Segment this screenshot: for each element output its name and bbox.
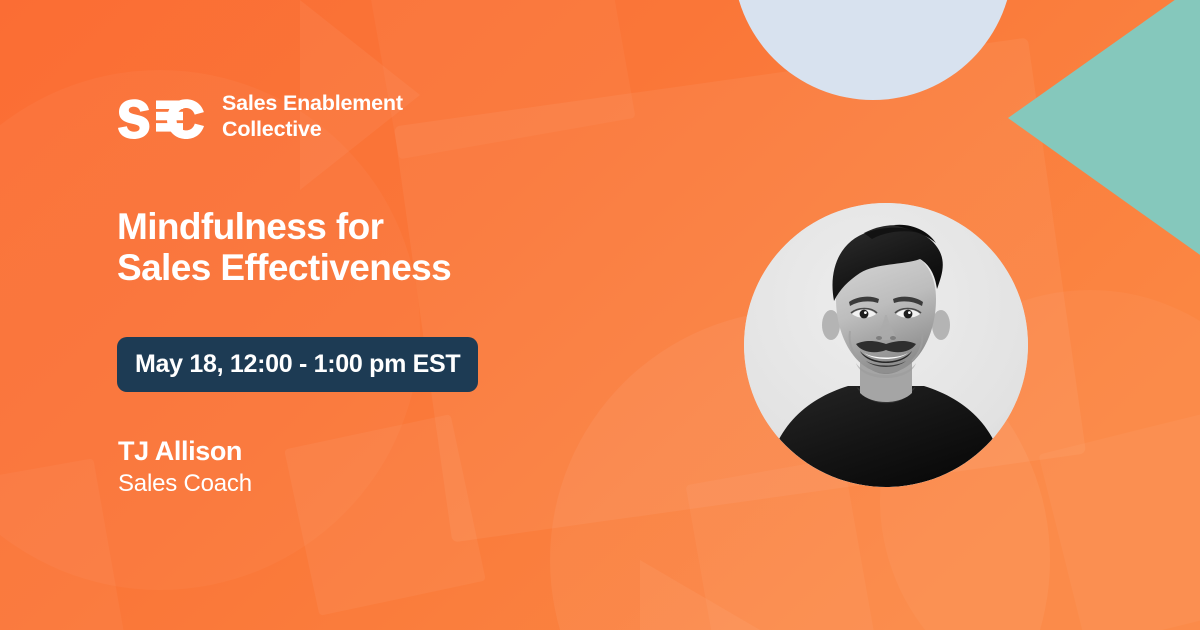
- speaker-name: TJ Allison: [118, 436, 252, 468]
- promo-graphic: Sales Enablement Collective Mindfulness …: [0, 0, 1200, 630]
- speaker-photo-illustration: [744, 203, 1028, 487]
- speaker-portrait: [744, 203, 1028, 487]
- brand-logo[interactable]: Sales Enablement Collective: [118, 90, 403, 142]
- date-time-badge: May 18, 12:00 - 1:00 pm EST: [117, 337, 478, 392]
- speaker-role: Sales Coach: [118, 470, 252, 499]
- logo-wordmark: Sales Enablement Collective: [222, 90, 403, 142]
- page-title: Mindfulness for Sales Effectiveness: [117, 206, 451, 288]
- sec-monogram-icon: [118, 93, 204, 139]
- speaker-block: TJ Allison Sales Coach: [118, 436, 252, 499]
